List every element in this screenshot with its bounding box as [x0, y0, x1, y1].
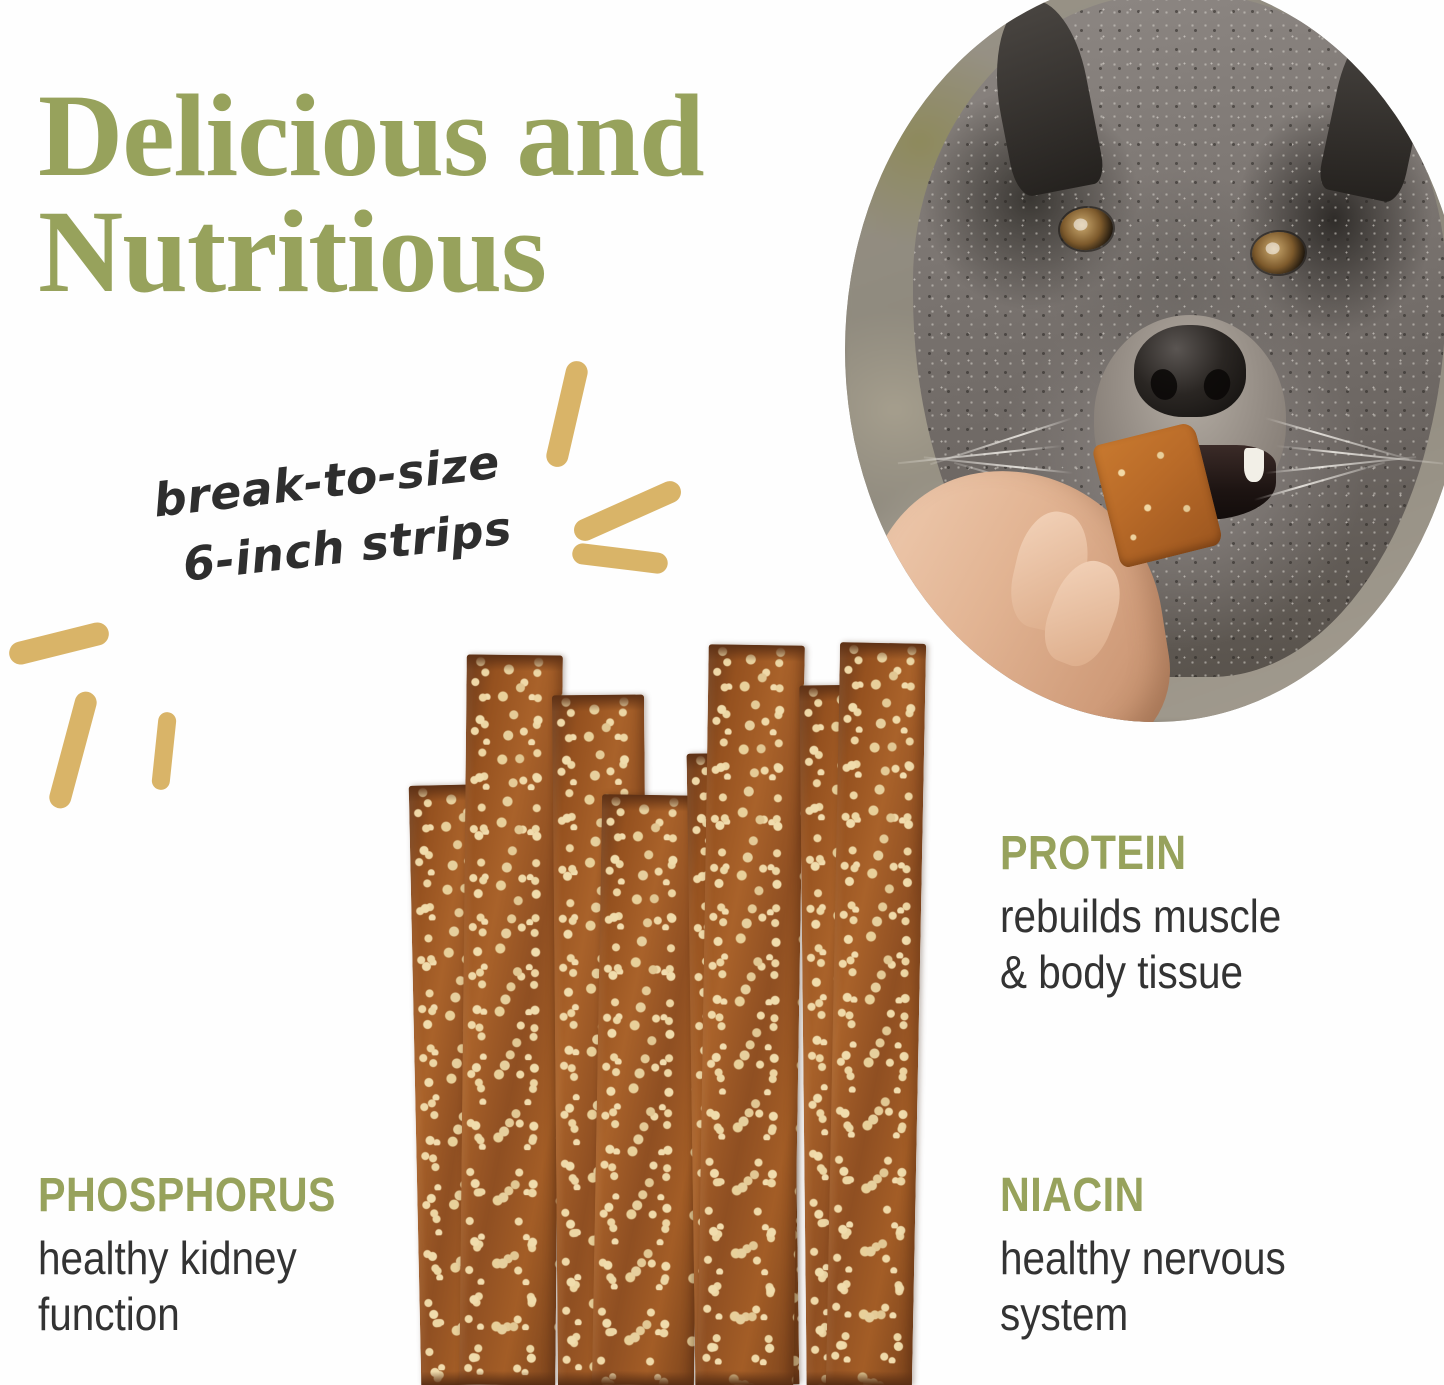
nutrient-title: PHOSPHORUS	[38, 1172, 336, 1220]
accent-stroke-icon	[544, 359, 590, 469]
marketing-image: Delicious and Nutritious break-to-size 6…	[0, 0, 1444, 1385]
accent-stroke-icon	[151, 711, 177, 790]
nutrient-description: healthy nervous system	[1000, 1230, 1286, 1342]
nutrient-desc-line-2: & body tissue	[1000, 944, 1281, 1000]
dog-eating-treat-photo	[845, 0, 1444, 722]
nutrient-description: healthy kidney function	[38, 1230, 343, 1342]
accent-stroke-icon	[570, 478, 684, 545]
page-title: Delicious and Nutritious	[38, 78, 838, 309]
dog-nose	[1134, 325, 1246, 417]
nutrient-title: PROTEIN	[1000, 830, 1275, 878]
nutrient-desc-line-1: healthy nervous	[1000, 1230, 1286, 1286]
nutrient-desc-line-2: function	[38, 1286, 343, 1342]
treat-strip	[592, 794, 704, 1385]
treat-strips-group	[415, 630, 980, 1385]
nutrient-desc-line-2: system	[1000, 1286, 1286, 1342]
treat-strip	[697, 644, 805, 1385]
accent-stroke-icon	[47, 689, 99, 811]
nutrient-block-protein: PROTEIN rebuilds muscle & body tissue	[1000, 830, 1320, 1000]
nutrient-desc-line-1: healthy kidney	[38, 1230, 343, 1286]
nutrient-title: NIACIN	[1000, 1172, 1279, 1220]
nutrient-description: rebuilds muscle & body tissue	[1000, 888, 1281, 1000]
nutrient-block-phosphorus: PHOSPHORUS healthy kidney function	[38, 1172, 384, 1342]
accent-stroke-icon	[7, 620, 112, 667]
accent-stroke-icon	[571, 542, 669, 575]
nutrient-desc-line-1: rebuilds muscle	[1000, 888, 1281, 944]
headline-line-2: Nutritious	[38, 194, 838, 310]
handwritten-callout: break-to-size 6-inch strips	[150, 420, 582, 600]
headline-line-1: Delicious and	[38, 70, 704, 201]
treat-strip	[826, 642, 926, 1385]
treat-strip	[459, 655, 563, 1385]
nutrient-block-niacin: NIACIN healthy nervous system	[1000, 1172, 1325, 1342]
